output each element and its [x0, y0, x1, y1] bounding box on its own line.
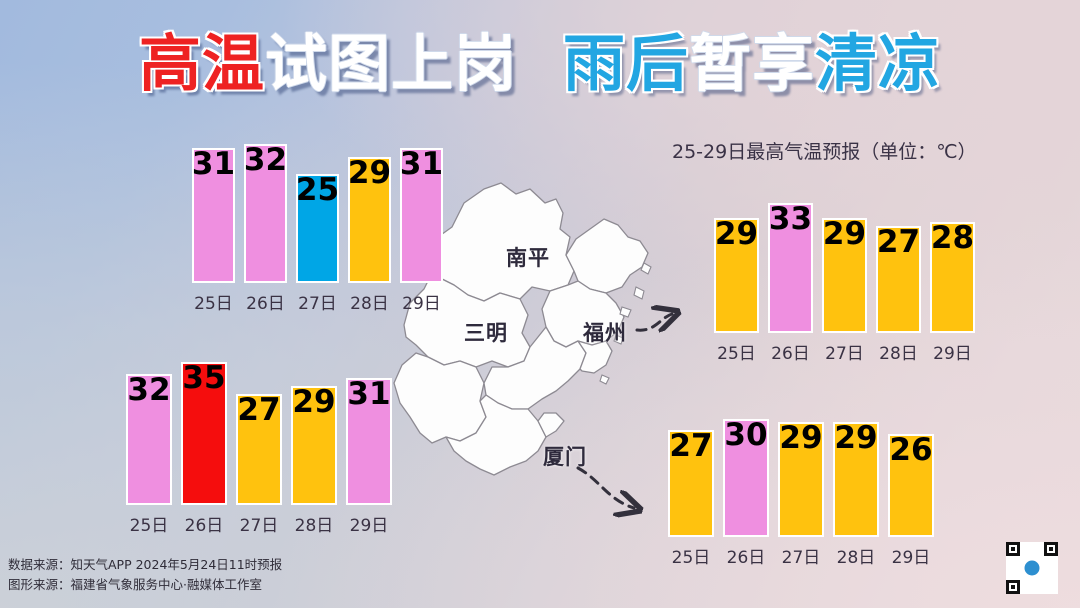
title-segment-attempt: 试图上岗 — [265, 28, 517, 99]
x-axis-tick-label: 29日 — [933, 339, 972, 364]
x-axis-tick-label: 28日 — [295, 511, 334, 536]
bar-column: 31 — [346, 328, 392, 506]
bar-column: 27 — [668, 385, 714, 538]
x-axis-tick-label: 29日 — [892, 543, 931, 568]
title-segment-cool: 清凉 — [815, 28, 941, 99]
chart-sanming: 323527293125日26日27日28日29日 — [126, 328, 392, 532]
bar-column: 29 — [833, 385, 879, 538]
x-axis-tick-label: 25日 — [130, 511, 169, 536]
chart-xiamen: 273029292625日26日27日28日29日 — [668, 385, 934, 564]
bar-column: 29 — [778, 385, 824, 538]
title-segment-enjoy: 暂享 — [689, 28, 815, 99]
map-label-xiamen: 厦门 — [543, 441, 587, 471]
bar-value-label: 29 — [715, 219, 758, 250]
x-axis-tick-label: 28日 — [879, 339, 918, 364]
bar-group: 3235272931 — [126, 328, 392, 506]
x-axis-tick-label: 27日 — [298, 289, 337, 314]
bar-value-label: 32 — [127, 375, 170, 406]
bar-value-label: 29 — [779, 423, 822, 454]
bar-column: 31 — [400, 110, 443, 283]
bar-column: 25 — [296, 110, 339, 283]
x-axis-tick-label: 28日 — [350, 289, 389, 314]
qr-center-logo — [1023, 559, 1042, 578]
bar-value-label: 33 — [769, 204, 812, 235]
bar-column: 27 — [236, 328, 282, 506]
bar-value-label: 29 — [823, 219, 866, 250]
bar-column: 29 — [822, 169, 867, 333]
qr-code[interactable] — [1006, 542, 1058, 594]
page-title: 高温试图上岗 雨后暂享清凉 — [0, 28, 1080, 99]
map-label-sanming: 三明 — [464, 317, 508, 347]
title-segment-afterrain: 雨后 — [563, 28, 689, 99]
title-segment-hot: 高温 — [139, 28, 265, 99]
x-axis-tick-label: 25日 — [717, 339, 756, 364]
bar-group: 2933292728 — [714, 169, 975, 333]
bar-column: 29 — [348, 110, 391, 283]
bar-value-label: 30 — [724, 420, 767, 451]
bar-value-label: 25 — [296, 175, 339, 206]
bar-value-label: 29 — [348, 158, 391, 189]
title-spacer — [517, 28, 563, 99]
bar-group: 3132252931 — [192, 110, 443, 283]
bar-value-label: 35 — [182, 363, 225, 394]
map-label-nanping: 南平 — [506, 242, 550, 272]
bar-value-label: 31 — [192, 149, 235, 180]
x-axis-tick-label: 26日 — [185, 511, 224, 536]
bar-column: 30 — [723, 385, 769, 538]
x-axis-tick-label: 29日 — [350, 511, 389, 536]
bar-value-label: 32 — [244, 145, 287, 176]
map-region-longyan — [394, 353, 486, 443]
bar-value-label: 26 — [889, 435, 932, 466]
chart-nanping: 313225293125日26日27日28日29日 — [192, 110, 443, 309]
x-axis-tick-label: 27日 — [240, 511, 279, 536]
bar-column: 32 — [126, 328, 172, 506]
bar-column: 28 — [930, 169, 975, 333]
x-axis-tick-label: 29日 — [402, 289, 441, 314]
x-axis-tick-label: 27日 — [825, 339, 864, 364]
bar-value-label: 29 — [834, 423, 877, 454]
footer-data-source: 数据来源：知天气APP 2024年5月24日11时预报 — [8, 555, 282, 576]
qr-eye-bottom-left — [1006, 580, 1020, 594]
footer-graphic-source: 图形来源：福建省气象服务中心·融媒体工作室 — [8, 575, 282, 596]
footer-credits: 数据来源：知天气APP 2024年5月24日11时预报 图形来源：福建省气象服务… — [8, 555, 282, 596]
qr-eye-top-right — [1044, 542, 1058, 556]
bar-value-label: 27 — [877, 227, 920, 258]
bar-value-label: 27 — [237, 395, 280, 426]
bar-column: 27 — [876, 169, 921, 333]
bar-value-label: 29 — [292, 387, 335, 418]
bar-value-label: 28 — [931, 223, 974, 254]
bar-column: 26 — [888, 385, 934, 538]
bar-value-label: 31 — [400, 149, 443, 180]
bar-column: 35 — [181, 328, 227, 506]
bar-column: 29 — [291, 328, 337, 506]
bar-group: 2730292926 — [668, 385, 934, 538]
weather-infographic: 高温试图上岗 雨后暂享清凉 25-29日最高气温预报（单位：℃） — [0, 0, 1080, 608]
x-axis-tick-label: 27日 — [782, 543, 821, 568]
qr-eye-top-left — [1006, 542, 1020, 556]
forecast-subtitle: 25-29日最高气温预报（单位：℃） — [672, 137, 977, 164]
x-axis-tick-label: 25日 — [672, 543, 711, 568]
x-axis-tick-label: 28日 — [837, 543, 876, 568]
map-label-fuzhou: 福州 — [583, 317, 627, 347]
x-axis-tick-label: 26日 — [727, 543, 766, 568]
bar-column: 31 — [192, 110, 235, 283]
bar-column: 29 — [714, 169, 759, 333]
bar-value-label: 27 — [669, 431, 712, 462]
bar-column: 32 — [244, 110, 287, 283]
chart-fuzhou: 293329272825日26日27日28日29日 — [714, 169, 975, 359]
x-axis-tick-label: 26日 — [771, 339, 810, 364]
x-axis-tick-label: 25日 — [194, 289, 233, 314]
map-islet-1 — [634, 287, 644, 299]
x-axis-tick-label: 26日 — [246, 289, 285, 314]
bar-value-label: 31 — [347, 379, 390, 410]
map-islet-4 — [600, 375, 609, 384]
bar-column: 33 — [768, 169, 813, 333]
